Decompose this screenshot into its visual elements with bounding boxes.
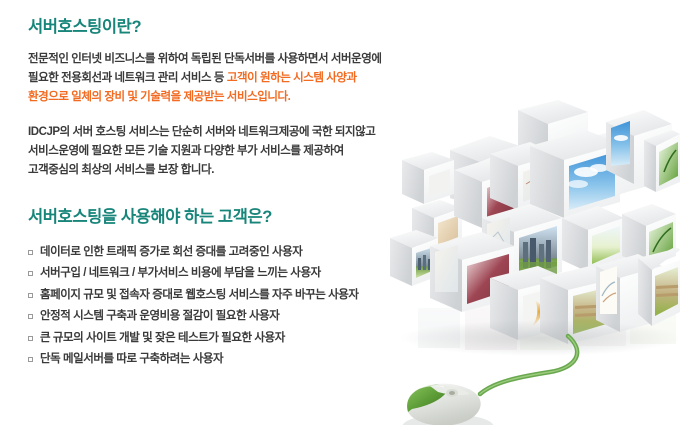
text-segment: 전문적인 인터넷 비즈니스를 위하여 독립된 단독서버를 사용하면서 서버운영에 xyxy=(28,53,382,65)
list-item: 데이터로 인한 트래픽 증가로 회선 증대를 고려중인 사용자 xyxy=(28,242,458,264)
list-item: 큰 규모의 사이트 개발 및 잦은 테스트가 필요한 사용자 xyxy=(28,328,458,350)
paragraph-2-line-3: 고객중심의 최상의 서비스를 보장 합니다. xyxy=(28,161,458,180)
list-item-label: 큰 규모의 사이트 개발 및 잦은 테스트가 필요한 사용자 xyxy=(40,332,285,344)
list-item: 단독 메일서버를 따로 구축하려는 사용자 xyxy=(28,349,458,371)
section-title-what-is-server-hosting: 서버호스팅이란? xyxy=(28,18,458,38)
text-segment: 고객중심의 최상의 서비스를 보장 합니다. xyxy=(28,164,214,176)
list-item-label: 단독 메일서버를 따로 구축하려는 사용자 xyxy=(40,353,223,365)
list-item-label: 홈페이지 규모 및 접속자 증대로 웹호스팅 서비스를 자주 바꾸는 사용자 xyxy=(40,289,358,301)
text-content: 서버호스팅이란? 전문적인 인터넷 비즈니스를 위하여 독립된 단독서버를 사용… xyxy=(28,0,458,371)
paragraph-2: IDCJP의 서버 호스팅 서비스는 단순히 서버와 네트워크제공에 국한 되지… xyxy=(28,123,458,180)
square-bullet-icon xyxy=(28,336,33,341)
cube-leaf-top-right xyxy=(644,130,680,192)
paragraph-1-line-2: 필요한 전용회선과 네트워크 관리 서비스 등 고객이 원하는 시스템 사양과 xyxy=(28,69,458,88)
square-bullet-icon xyxy=(28,314,33,319)
square-bullet-icon xyxy=(28,271,33,276)
text-segment: 서비스운영에 필요한 모든 기술 지원과 다양한 부가 서비스를 제공하여 xyxy=(28,145,344,157)
list-item: 서버구입 / 네트워크 / 부가서비스 비용에 부담을 느끼는 사용자 xyxy=(28,263,458,285)
hosting-info-page: 서버호스팅이란? 전문적인 인터넷 비즈니스를 위하여 독립된 단독서버를 사용… xyxy=(0,0,680,425)
highlighted-text-segment: 고객이 원하는 시스템 사양과 xyxy=(227,72,357,84)
paragraph-1-line-3: 환경으로 일체의 장비 및 기술력을 제공받는 서비스입니다. xyxy=(28,88,458,107)
square-bullet-icon xyxy=(28,293,33,298)
list-item-label: 서버구입 / 네트워크 / 부가서비스 비용에 부담을 느끼는 사용자 xyxy=(40,267,321,279)
paragraph-1: 전문적인 인터넷 비즈니스를 위하여 독립된 단독서버를 사용하면서 서버운영에… xyxy=(28,50,458,107)
section-title-who-should-use: 서버호스팅을 사용해야 하는 고객은? xyxy=(28,208,458,228)
list-item: 홈페이지 규모 및 접속자 증대로 웹호스팅 서비스를 자주 바꾸는 사용자 xyxy=(28,285,458,307)
text-segment: IDCJP의 서버 호스팅 서비스는 단순히 서버와 네트워크제공에 국한 되지… xyxy=(28,126,375,138)
square-bullet-icon xyxy=(28,250,33,255)
list-item: 안정적 시스템 구축과 운영비용 절감이 필요한 사용자 xyxy=(28,306,458,328)
paragraph-2-line-1: IDCJP의 서버 호스팅 서비스는 단순히 서버와 네트워크제공에 국한 되지… xyxy=(28,123,458,142)
list-item-label: 데이터로 인한 트래픽 증가로 회선 증대를 고려중인 사용자 xyxy=(40,246,302,258)
paragraph-2-line-2: 서비스운영에 필요한 모든 기술 지원과 다양한 부가 서비스를 제공하여 xyxy=(28,142,458,161)
paragraph-1-line-1: 전문적인 인터넷 비즈니스를 위하여 독립된 단독서버를 사용하면서 서버운영에 xyxy=(28,50,458,69)
highlighted-text-segment: 환경으로 일체의 장비 및 기술력을 제공받는 서비스입니다. xyxy=(28,91,290,103)
text-segment: 필요한 전용회선과 네트워크 관리 서비스 등 xyxy=(28,72,227,84)
square-bullet-icon xyxy=(28,357,33,362)
list-item-label: 안정적 시스템 구축과 운영비용 절감이 필요한 사용자 xyxy=(40,310,279,322)
target-customer-list: 데이터로 인한 트래픽 증가로 회선 증대를 고려중인 사용자 서버구입 / 네… xyxy=(28,242,458,371)
computer-mouse xyxy=(402,384,494,425)
